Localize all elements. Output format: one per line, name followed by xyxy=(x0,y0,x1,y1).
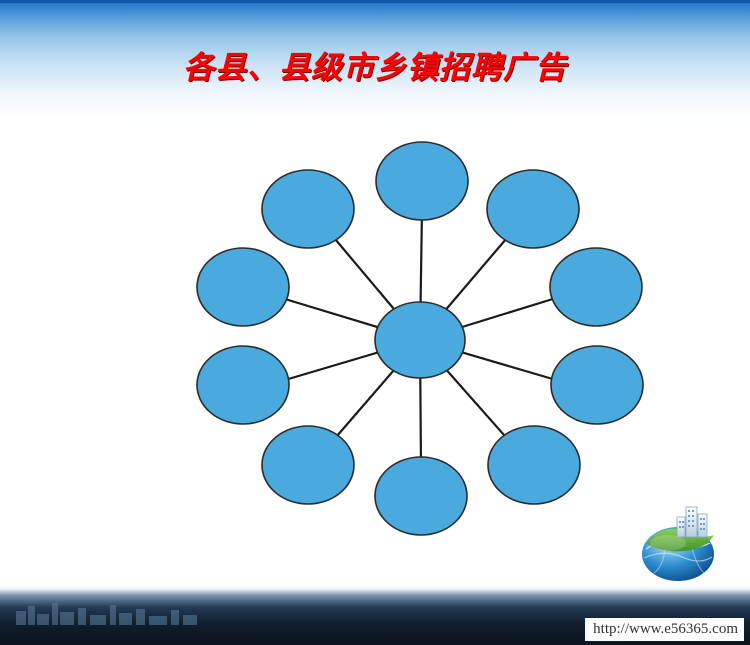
diagram-node[interactable] xyxy=(375,457,467,535)
diagram-node[interactable] xyxy=(551,346,643,424)
diagram-node[interactable] xyxy=(487,170,579,248)
slide-canvas: 各县、县级市乡镇招聘广告 xyxy=(0,0,750,645)
diagram-node[interactable] xyxy=(262,170,354,248)
diagram-node[interactable] xyxy=(197,346,289,424)
diagram-node[interactable] xyxy=(262,426,354,504)
diagram-node[interactable] xyxy=(376,142,468,220)
globe-city-logo-icon xyxy=(624,497,732,583)
diagram-hub-node[interactable] xyxy=(375,302,465,378)
diagram-node[interactable] xyxy=(197,248,289,326)
diagram-node[interactable] xyxy=(488,426,580,504)
watermark-url: http://www.e56365.com xyxy=(585,618,744,641)
diagram-node[interactable] xyxy=(550,248,642,326)
skyline-silhouette-icon xyxy=(12,599,202,625)
